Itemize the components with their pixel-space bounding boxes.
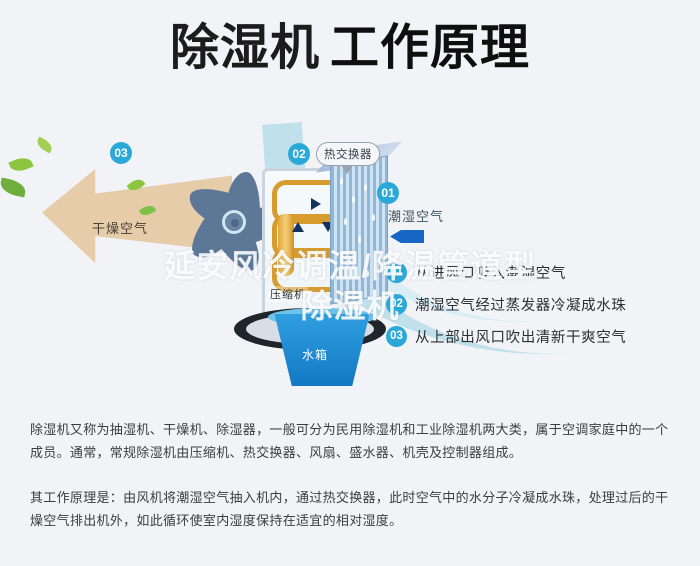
water-droplet-icon: [372, 214, 375, 221]
flow-arrow-right-icon: [311, 198, 321, 210]
step-text: 从上部出风口吹出清新干爽空气: [415, 326, 626, 347]
heat-exchanger-callout: 热交换器: [316, 142, 380, 166]
step-badge: 03: [386, 326, 407, 347]
step-text: 潮湿空气经过蒸发器冷凝成水珠: [415, 294, 626, 315]
water-droplet-icon: [348, 258, 351, 265]
step-item: 02 潮湿空气经过蒸发器冷凝成水珠: [386, 288, 686, 320]
title-part-secondary: 工作原理: [330, 24, 530, 73]
page-title: 除湿机工作原理: [0, 24, 700, 73]
step-item: 03 从上部出风口吹出清新干爽空气: [386, 320, 686, 352]
flow-arrow-up-icon: [292, 222, 304, 232]
step-text: 从进风口吸入潮湿空气: [415, 262, 566, 283]
infographic-page: 除湿机工作原理 干燥空气: [0, 0, 700, 566]
water-droplet-icon: [340, 178, 343, 185]
humid-air-label: 潮湿空气: [388, 206, 444, 225]
water-droplet-icon: [364, 184, 367, 191]
water-droplet-icon: [358, 236, 361, 243]
step-item: 01 从进风口吸入潮湿空气: [386, 256, 686, 288]
description-paragraph-2: 其工作原理是：由风机将潮湿空气抽入机内，通过热交换器，此时空气中的水分子冷凝成水…: [30, 486, 675, 532]
step-badge: 02: [386, 294, 407, 315]
dry-air-label: 干燥空气: [92, 218, 148, 237]
evaporator-fins: [330, 155, 388, 304]
diagram-badge-02: 02: [288, 143, 310, 165]
water-tank-label: 水箱: [302, 346, 328, 363]
leaf-icon: [8, 154, 33, 174]
description-paragraph-1: 除湿机又称为抽湿机、干燥机、除湿器，一般可分为民用除湿机和工业除湿机两大类，属于…: [30, 418, 675, 464]
compressor-label: 压缩机: [268, 286, 308, 302]
water-droplet-icon: [352, 196, 355, 203]
water-droplet-icon: [366, 270, 369, 277]
water-droplet-icon: [344, 218, 347, 225]
description-block: 除湿机又称为抽湿机、干燥机、除湿器，一般可分为民用除湿机和工业除湿机两大类，属于…: [30, 418, 675, 532]
step-badge: 01: [386, 262, 407, 283]
diagram-badge-01: 01: [377, 182, 399, 204]
title-part-primary: 除湿机: [170, 24, 320, 73]
steps-list: 01 从进风口吸入潮湿空气 02 潮湿空气经过蒸发器冷凝成水珠 03 从上部出风…: [386, 256, 686, 352]
fan-hub-icon: [222, 210, 246, 234]
leaf-icon: [35, 137, 55, 154]
leaf-icon: [0, 177, 27, 197]
diagram-badge-03: 03: [110, 142, 132, 164]
